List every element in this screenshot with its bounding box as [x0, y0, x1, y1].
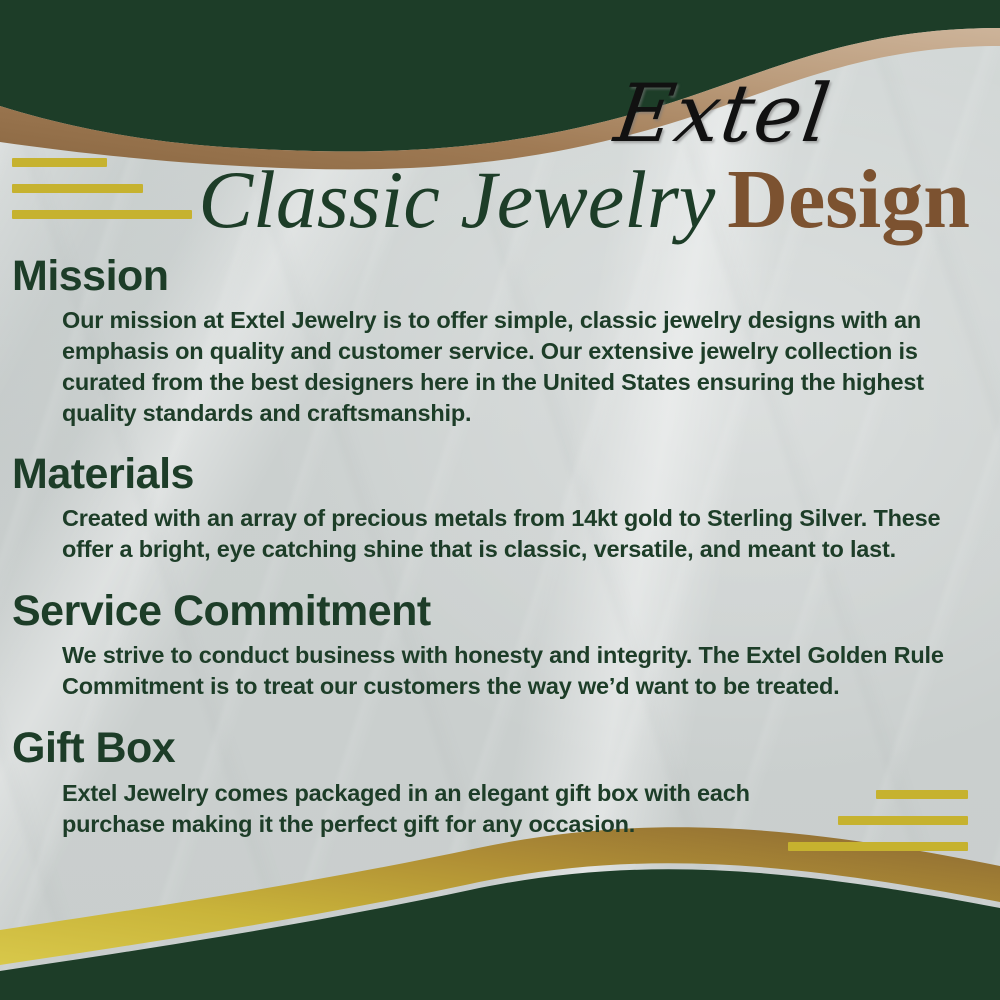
- content-sections: Mission Our mission at Extel Jewelry is …: [0, 252, 1000, 844]
- section-body-materials: Created with an array of precious metals…: [62, 503, 968, 565]
- section-mission: Mission Our mission at Extel Jewelry is …: [0, 252, 1000, 430]
- section-heading-mission: Mission: [12, 252, 1000, 301]
- title-main-text: Classic Jewelry: [198, 154, 715, 245]
- section-service-commitment: Service Commitment We strive to conduct …: [0, 587, 1000, 702]
- section-body-mission: Our mission at Extel Jewelry is to offer…: [62, 305, 968, 429]
- brand-logo: Extel: [611, 74, 836, 154]
- poster-canvas: Extel Classic JewelryDesign Mission Our …: [0, 0, 1000, 1000]
- section-heading-materials: Materials: [12, 450, 1000, 499]
- section-body-gift-box: Extel Jewelry comes packaged in an elega…: [62, 778, 750, 840]
- page-title: Classic JewelryDesign: [0, 158, 970, 242]
- section-heading-gift-box: Gift Box: [12, 724, 1000, 773]
- section-materials: Materials Created with an array of preci…: [0, 450, 1000, 565]
- section-body-service-commitment: We strive to conduct business with hones…: [62, 640, 968, 702]
- title-accent-text: Design: [727, 153, 970, 246]
- section-heading-service-commitment: Service Commitment: [12, 587, 1000, 636]
- section-gift-box: Gift Box Extel Jewelry comes packaged in…: [0, 724, 1000, 839]
